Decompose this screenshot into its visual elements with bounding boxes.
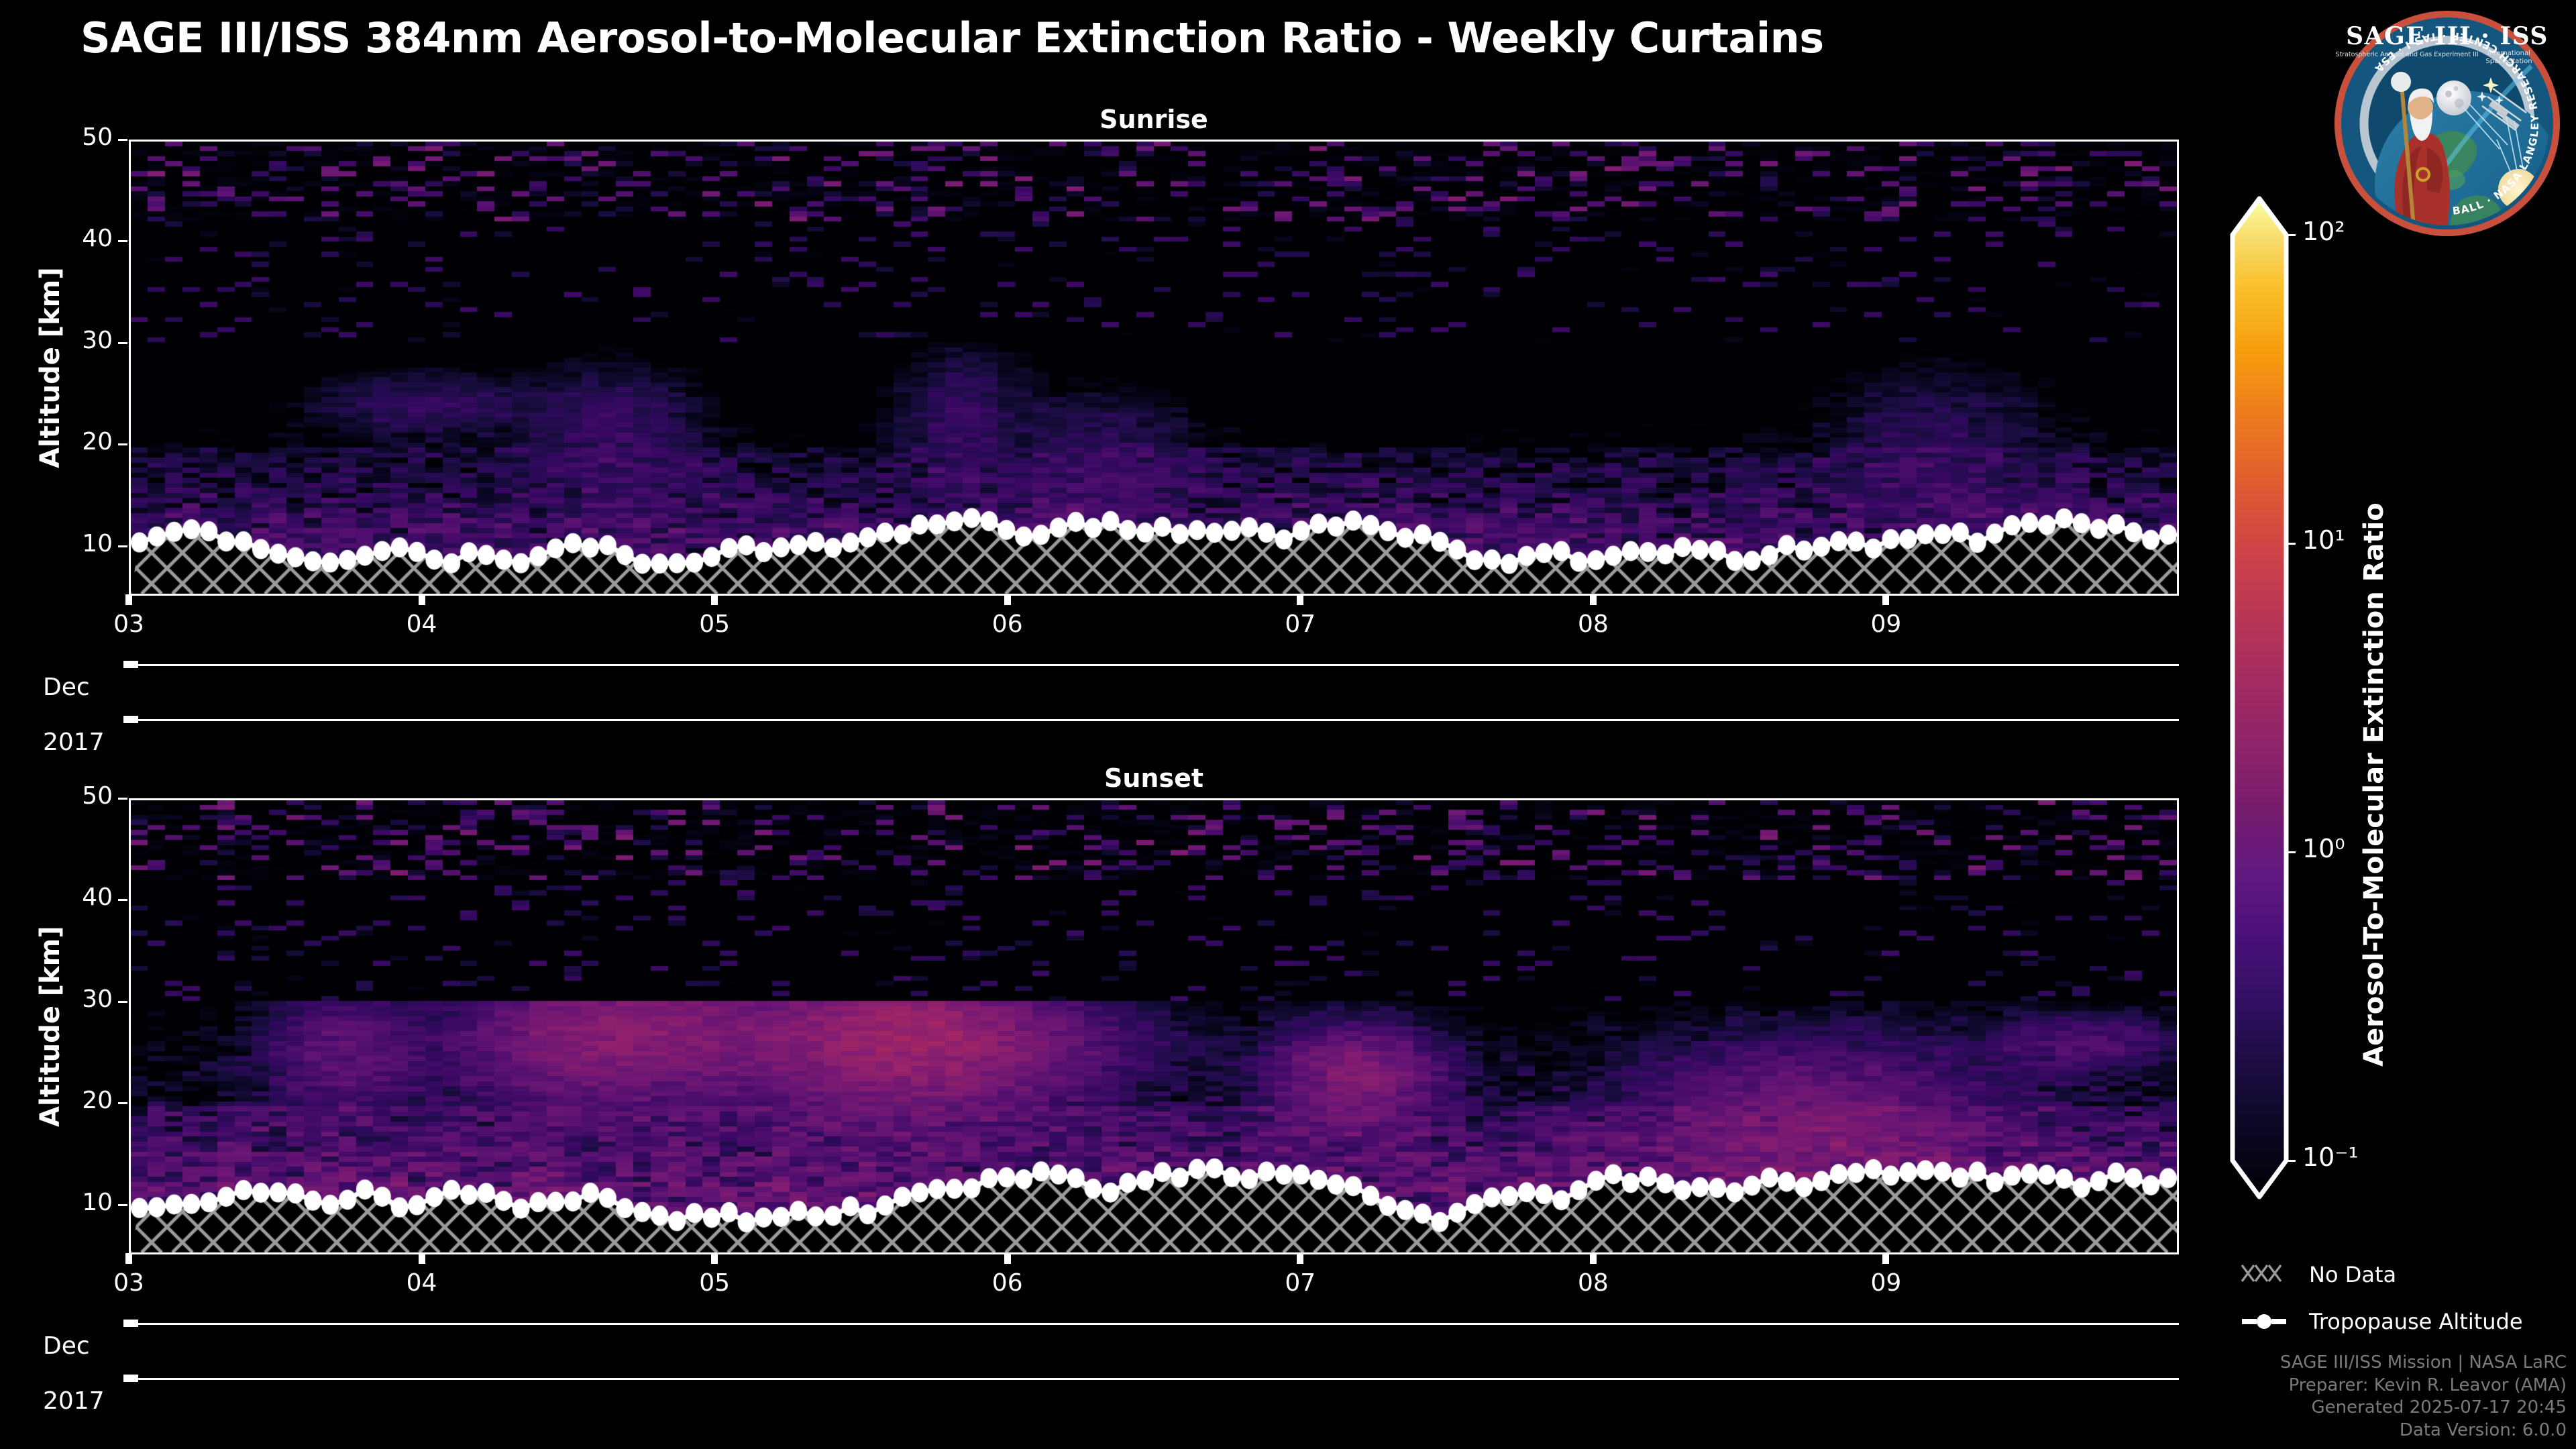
y-tick-label-sunset-10: 10 — [46, 1189, 113, 1216]
x-tick-label-sunrise-04: 04 — [382, 610, 462, 638]
x-tick-label-sunset-08: 08 — [1553, 1269, 1633, 1297]
y-tick-label-sunrise-40: 40 — [46, 225, 113, 252]
footer-line-generated: Generated 2025-07-17 20:45 — [2280, 1397, 2567, 1419]
x-tick-label-sunrise-06: 06 — [967, 610, 1048, 638]
y-tick-label-sunrise-30: 30 — [46, 327, 113, 354]
x-tick-label-sunrise-03: 03 — [89, 610, 169, 638]
panel-sunrise: Sunrise — [129, 140, 2179, 596]
x-tick-mark-sunrise-04 — [419, 594, 425, 605]
x-tick-label-sunrise-08: 08 — [1553, 610, 1633, 638]
legend-entry-no-data[interactable]: No Data — [2241, 1261, 2396, 1288]
x-tick-mark-sunset-03 — [125, 1253, 132, 1264]
month-rule-sunrise — [129, 664, 2179, 666]
colorbar-tick-label-0.1: 10⁻¹ — [2302, 1142, 2359, 1172]
colorbar-tick-mark-0.1 — [2286, 1160, 2296, 1162]
x-tick-mark-sunrise-08 — [1590, 594, 1597, 605]
tropopause-series-sunset — [131, 800, 2177, 1252]
year-label-sunrise: 2017 — [43, 729, 105, 756]
y-tick-mark-sunrise-30 — [118, 342, 127, 344]
colorbar-tick-label-10: 10¹ — [2302, 525, 2345, 555]
plot-area-sunrise[interactable] — [129, 140, 2179, 596]
y-tick-mark-sunrise-10 — [118, 545, 127, 547]
colorbar-gradient-body — [2233, 199, 2286, 1197]
x-tick-label-sunset-03: 03 — [89, 1269, 169, 1297]
x-tick-mark-sunrise-07 — [1297, 594, 1303, 605]
y-tick-label-sunrise-10: 10 — [46, 530, 113, 557]
x-tick-mark-sunset-05 — [711, 1253, 718, 1264]
y-tick-mark-sunrise-20 — [118, 443, 127, 445]
y-tick-mark-sunrise-40 — [118, 240, 127, 242]
y-tick-label-sunset-30: 30 — [46, 985, 113, 1013]
x-tick-label-sunset-07: 07 — [1260, 1269, 1340, 1297]
y-tick-label-sunset-40: 40 — [46, 883, 113, 911]
y-tick-mark-sunset-40 — [118, 899, 127, 901]
year-rule-sunset — [129, 1378, 2179, 1380]
legend-entry-tropopause[interactable]: Tropopause Altitude — [2241, 1308, 2523, 1335]
colorbar-tick-label-100: 10² — [2302, 217, 2345, 246]
x-tick-mark-sunset-09 — [1882, 1253, 1889, 1264]
x-tick-mark-sunrise-09 — [1882, 594, 1889, 605]
x-tick-mark-sunrise-06 — [1004, 594, 1011, 605]
plot-area-sunset[interactable] — [129, 798, 2179, 1254]
x-tick-mark-sunset-06 — [1004, 1253, 1011, 1264]
y-tick-mark-sunset-10 — [118, 1204, 127, 1206]
colorbar-tick-label-1: 10⁰ — [2302, 834, 2345, 863]
tropopause-series-sunrise — [131, 142, 2177, 594]
x-tick-label-sunset-04: 04 — [382, 1269, 462, 1297]
footer-line-mission: SAGE III/ISS Mission | NASA LaRC — [2280, 1352, 2567, 1375]
colorbar-tick-mark-10 — [2286, 543, 2296, 545]
x-tick-label-sunset-06: 06 — [967, 1269, 1048, 1297]
x-tick-label-sunset-09: 09 — [1845, 1269, 1926, 1297]
y-tick-label-sunrise-50: 50 — [46, 123, 113, 151]
month-tick-nub-sunrise — [123, 661, 138, 668]
sage-iii-iss-logo: SAGE III · ISS Stratospheric Aerosol and… — [2329, 5, 2565, 241]
x-tick-mark-sunrise-05 — [711, 594, 718, 605]
y-tick-mark-sunset-30 — [118, 1001, 127, 1003]
y-tick-label-sunset-20: 20 — [46, 1087, 113, 1114]
y-tick-label-sunset-50: 50 — [46, 782, 113, 810]
x-tick-mark-sunset-07 — [1297, 1253, 1303, 1264]
panel-title-sunrise: Sunrise — [129, 105, 2179, 134]
y-tick-mark-sunrise-50 — [118, 139, 127, 141]
colorbar-tick-mark-100 — [2286, 234, 2296, 236]
month-tick-nub-sunset — [123, 1320, 138, 1327]
year-tick-nub-sunrise — [123, 716, 138, 723]
x-tick-mark-sunrise-03 — [125, 594, 132, 605]
footer-line-version: Data Version: 6.0.0 — [2280, 1419, 2567, 1442]
page-title: SAGE III/ISS 384nm Aerosol-to-Molecular … — [80, 13, 1824, 62]
y-tick-mark-sunset-50 — [118, 798, 127, 800]
year-rule-sunrise — [129, 719, 2179, 721]
x-tick-label-sunrise-09: 09 — [1845, 610, 1926, 638]
legend-label-tropopause: Tropopause Altitude — [2309, 1309, 2523, 1334]
month-label-sunrise: Dec — [43, 674, 90, 701]
hatch-swatch-icon — [2241, 1261, 2292, 1288]
colorbar[interactable] — [2229, 195, 2309, 1201]
x-tick-label-sunrise-07: 07 — [1260, 610, 1340, 638]
colorbar-tick-mark-1 — [2286, 851, 2296, 853]
legend-label-no-data: No Data — [2309, 1262, 2396, 1287]
y-tick-label-sunrise-20: 20 — [46, 428, 113, 455]
x-tick-mark-sunset-08 — [1590, 1253, 1597, 1264]
line-circle-marker-icon — [2241, 1308, 2292, 1335]
year-label-sunset: 2017 — [43, 1387, 105, 1415]
panel-sunset: Sunset — [129, 798, 2179, 1254]
footer-line-preparer: Preparer: Kevin R. Leavor (AMA) — [2280, 1375, 2567, 1397]
colorbar-title: Aerosol-To-Molecular Extinction Ratio — [2359, 502, 2390, 1067]
x-tick-mark-sunset-04 — [419, 1253, 425, 1264]
y-tick-mark-sunset-20 — [118, 1102, 127, 1104]
month-rule-sunset — [129, 1323, 2179, 1325]
month-label-sunset: Dec — [43, 1332, 90, 1360]
footer-credits: SAGE III/ISS Mission | NASA LaRC Prepare… — [2280, 1352, 2567, 1442]
x-tick-label-sunrise-05: 05 — [674, 610, 755, 638]
year-tick-nub-sunset — [123, 1375, 138, 1382]
x-tick-label-sunset-05: 05 — [674, 1269, 755, 1297]
panel-title-sunset: Sunset — [129, 763, 2179, 793]
